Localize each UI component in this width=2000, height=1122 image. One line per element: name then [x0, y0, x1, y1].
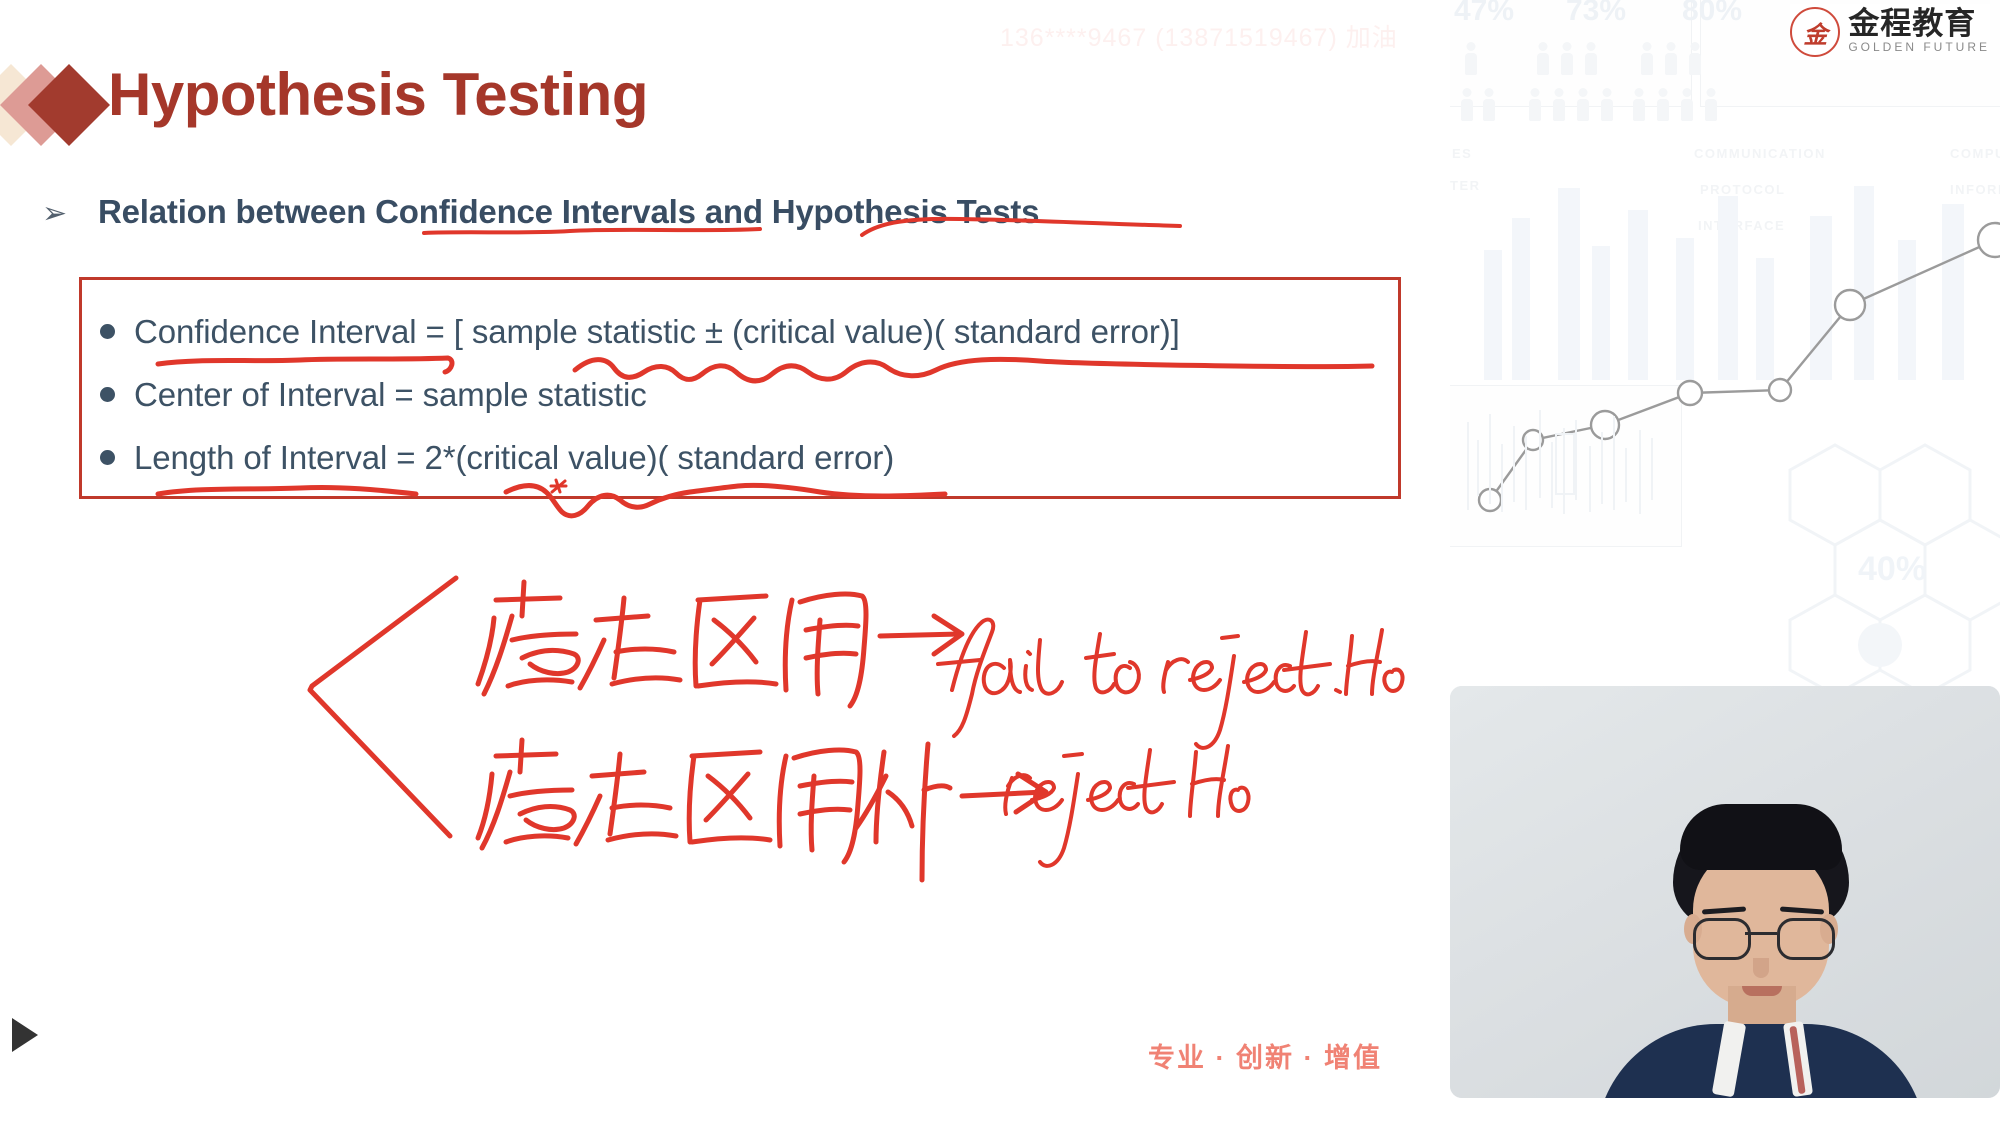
arrow-bullet-icon: ➢ — [42, 199, 67, 229]
ink-handwriting-line-2-condition — [478, 740, 950, 880]
decor-candlestick-chart — [1456, 392, 1686, 542]
glasses-icon — [1693, 918, 1831, 956]
list-item: Center of Interval = sample statistic — [100, 363, 1420, 426]
brand-seal-icon: 金 — [1790, 7, 1840, 57]
bullet-dot-icon — [100, 450, 115, 465]
slide-canvas: 136****9467 (13871519467) 加油 Hypothesis … — [0, 0, 1450, 1122]
decor-hexagon-cluster: 40% — [1730, 440, 2000, 690]
formula-list: Confidence Interval = [ sample statistic… — [100, 300, 1420, 489]
bullet-dot-icon — [100, 324, 115, 339]
brand-seal-char: 金 — [1803, 15, 1827, 50]
ink-handwriting-line-1-condition — [478, 582, 866, 706]
infographic-backdrop: 47% 73% 80% — [1450, 0, 2000, 690]
screen: 136****9467 (13871519467) 加油 Hypothesis … — [0, 0, 2000, 1122]
list-item: Confidence Interval = [ sample statistic… — [100, 300, 1420, 363]
brand-name-cn: 金程教育 — [1848, 8, 1990, 39]
ink-arrow-line-1 — [880, 616, 962, 654]
viewer-watermark: 136****9467 (13871519467) 加油 — [1000, 18, 1398, 54]
list-item-label: Center of Interval = sample statistic — [134, 376, 647, 414]
right-rail: 47% 73% 80% — [1450, 0, 2000, 1122]
ink-handwriting-line-2-result — [1005, 746, 1248, 866]
presenter-mouth — [1742, 986, 1782, 996]
presenter-video[interactable] — [1450, 686, 2000, 1098]
handwritten-ink-layer — [0, 0, 1450, 1122]
brand-name-en: GOLDEN FUTURE — [1848, 39, 1990, 56]
diamond-decoration-icon — [0, 62, 97, 148]
ink-handwriting-line-1-result — [938, 620, 1403, 748]
ink-arrow-line-2 — [962, 774, 1046, 812]
page-title: Hypothesis Testing — [108, 60, 648, 129]
list-item-label: Length of Interval = 2*(critical value)(… — [134, 439, 894, 477]
ink-brace-angle — [310, 578, 456, 836]
footer-slogan: 专业 · 创新 · 增值 — [1148, 1036, 1382, 1075]
list-item-label: Confidence Interval = [ sample statistic… — [134, 313, 1180, 351]
presenter-nose — [1753, 958, 1769, 978]
subheading-text: Relation between Confidence Intervals an… — [98, 193, 1039, 231]
play-button[interactable] — [12, 1018, 38, 1052]
bullet-dot-icon — [100, 387, 115, 402]
brand-logo: 金 金程教育 GOLDEN FUTURE — [1790, 4, 1990, 60]
presenter-fringe — [1680, 804, 1842, 870]
svg-text:40%: 40% — [1858, 550, 1926, 588]
list-item: Length of Interval = 2*(critical value)(… — [100, 426, 1420, 489]
